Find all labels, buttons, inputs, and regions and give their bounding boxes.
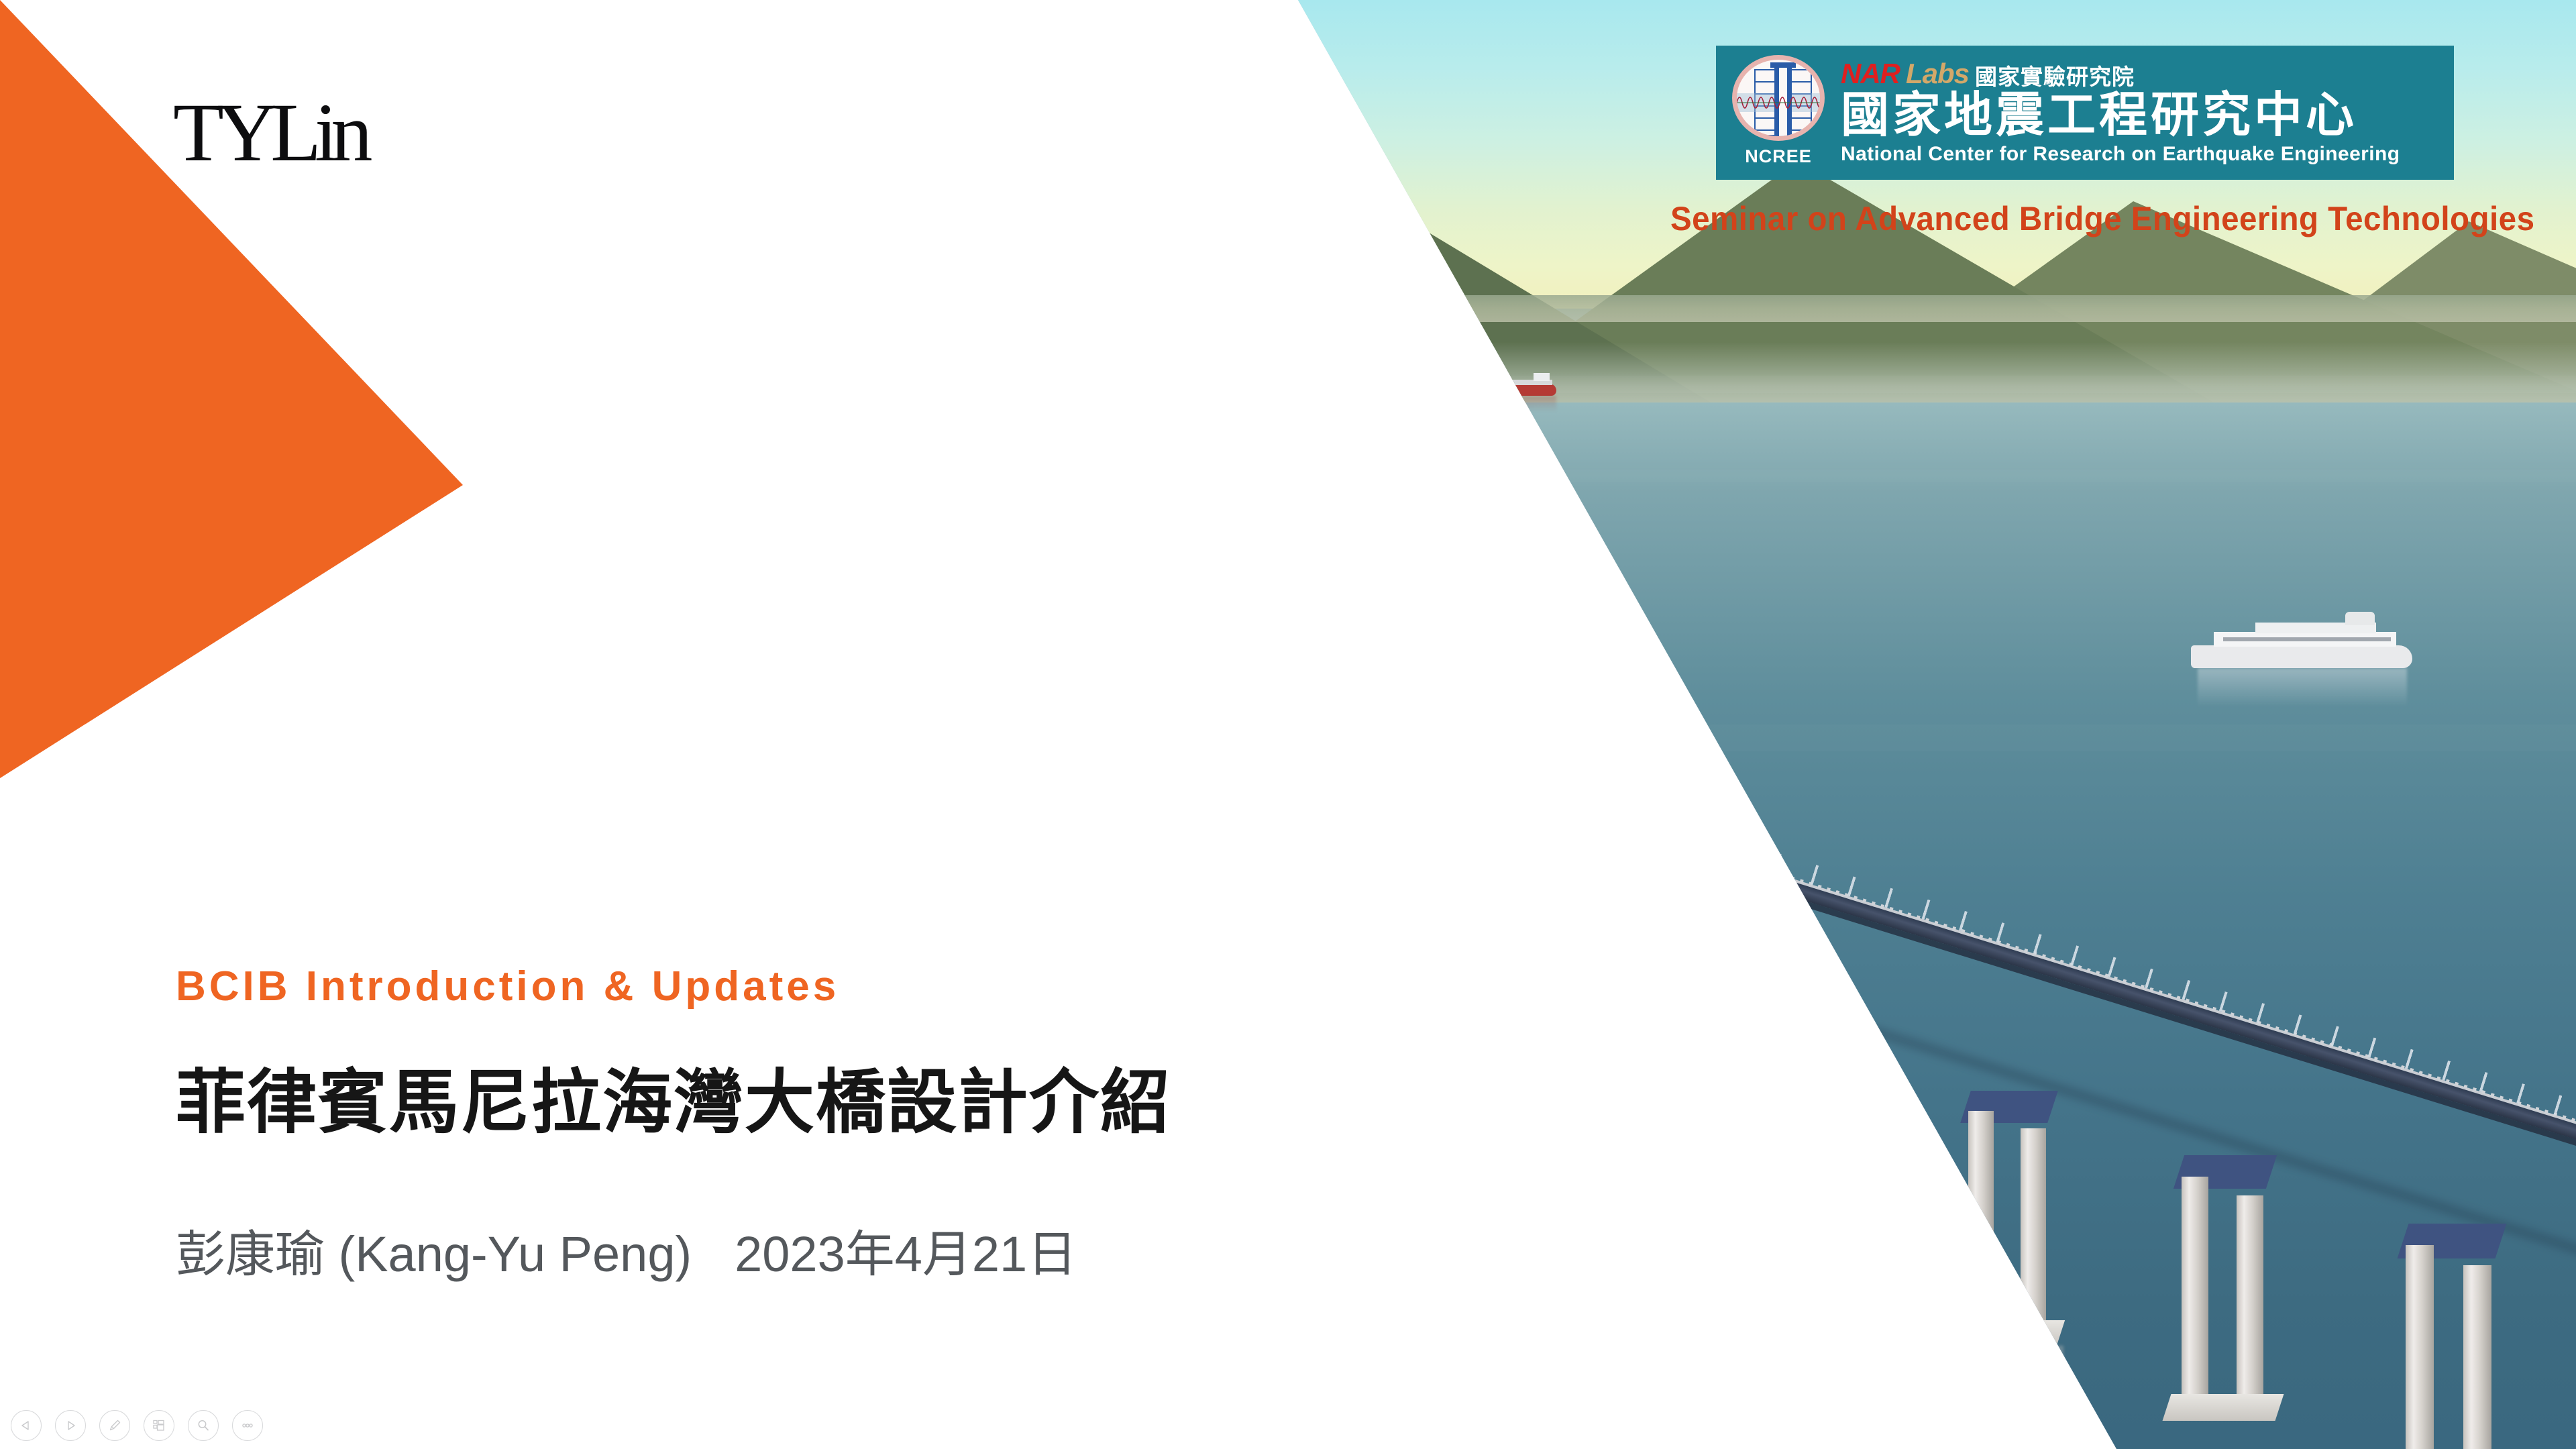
- presentation-date: 2023年4月21日: [735, 1226, 1077, 1282]
- narlabs-chinese-name: 國家實驗研究院: [1975, 66, 2135, 88]
- ellipsis-icon: [239, 1417, 256, 1434]
- ncree-emblem-label: NCREE: [1728, 146, 1829, 167]
- page-title: 菲律賓馬尼拉海灣大橋設計介紹: [176, 1045, 1171, 1146]
- pen-icon: [107, 1418, 122, 1433]
- zoom-button[interactable]: [188, 1410, 219, 1441]
- slide-kicker: BCIB Introduction & Updates: [176, 963, 839, 1010]
- cruise-ship: [2191, 610, 2412, 684]
- bridge-pylon-back: [970, 180, 1017, 676]
- byline: 彭康瑜 (Kang-Yu Peng)2023年4月21日: [176, 1214, 1077, 1286]
- presentation-slide: TYLin NCREE NAR Labs 國家實驗研究院: [0, 0, 2576, 1449]
- triangle-left-icon: [19, 1419, 33, 1432]
- speaker-name: 彭康瑜 (Kang-Yu Peng): [176, 1226, 692, 1282]
- triangle-right-icon: [64, 1419, 77, 1432]
- grid-icon: [152, 1418, 166, 1433]
- slide-overview-button[interactable]: [144, 1410, 174, 1441]
- narlabs-nar-text: NAR: [1841, 60, 1900, 88]
- cable-stays-back-pylon: [792, 168, 1301, 651]
- narlabs-labs-text: Labs: [1906, 60, 1969, 88]
- shoreline: [0, 295, 2576, 322]
- bridge-pylon-front: [1313, 142, 1375, 880]
- ncree-banner: NCREE NAR Labs 國家實驗研究院 國家地震工程研究中心 Nation…: [1716, 46, 2454, 180]
- more-options-button[interactable]: [232, 1410, 263, 1441]
- white-vessel: [1140, 374, 1228, 397]
- ncree-emblem-icon: NCREE: [1728, 52, 1829, 173]
- tylin-logo: TYLin: [173, 91, 366, 174]
- next-slide-button[interactable]: [55, 1410, 86, 1441]
- magnifier-icon: [196, 1418, 211, 1433]
- ncree-english-name: National Center for Research on Earthqua…: [1841, 143, 2445, 166]
- seminar-headline: Seminar on Advanced Bridge Engineering T…: [1670, 199, 2480, 238]
- annotate-pen-button[interactable]: [99, 1410, 130, 1441]
- ncree-chinese-name: 國家地震工程研究中心: [1841, 91, 2445, 141]
- approach-viaduct-far: [510, 349, 1087, 523]
- slide-toolbar[interactable]: [11, 1410, 263, 1441]
- previous-slide-button[interactable]: [11, 1410, 42, 1441]
